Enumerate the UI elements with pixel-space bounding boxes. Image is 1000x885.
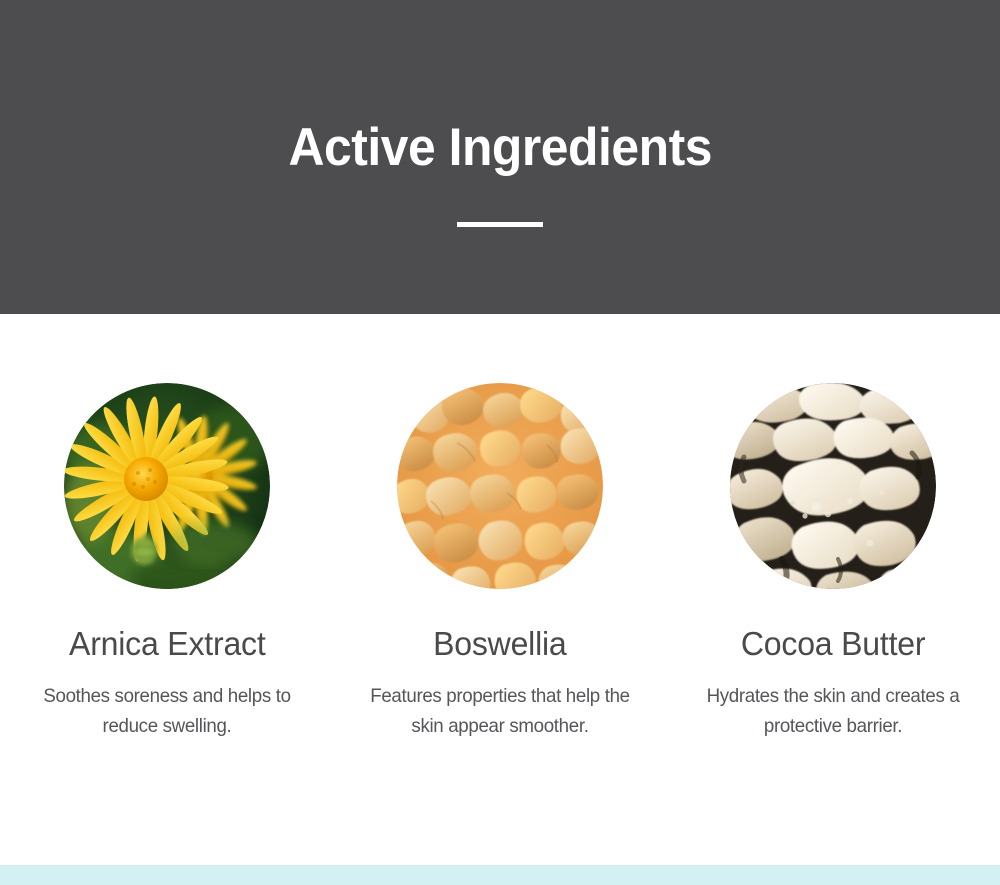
ingredient-card-list: Arnica Extract Soothes soreness and help… <box>0 314 1000 865</box>
arnica-flower-image <box>64 383 270 589</box>
ingredient-name: Boswellia <box>433 589 566 662</box>
ingredient-card-cocoa-butter: Cocoa Butter Hydrates the skin and creat… <box>667 314 1000 742</box>
ingredient-name: Arnica Extract <box>69 589 266 662</box>
page-title: Active Ingredients <box>288 87 711 174</box>
header-banner: Active Ingredients <box>0 0 1000 314</box>
ingredient-description: Hydrates the skin and creates a protecti… <box>689 662 977 741</box>
ingredient-description: Features properties that help the skin a… <box>356 662 644 741</box>
ingredient-card-arnica-extract: Arnica Extract Soothes soreness and help… <box>1 314 334 742</box>
bottom-accent-band <box>0 865 1000 885</box>
boswellia-resin-image <box>397 383 603 589</box>
ingredients-page: Active Ingredients <box>0 0 1000 885</box>
ingredient-description: Soothes soreness and helps to reduce swe… <box>23 662 311 741</box>
ingredient-card-boswellia: Boswellia Features properties that help … <box>334 314 667 742</box>
ingredient-name: Cocoa Butter <box>741 589 925 662</box>
cocoa-butter-image <box>730 383 936 589</box>
title-underline-rule <box>457 222 543 227</box>
